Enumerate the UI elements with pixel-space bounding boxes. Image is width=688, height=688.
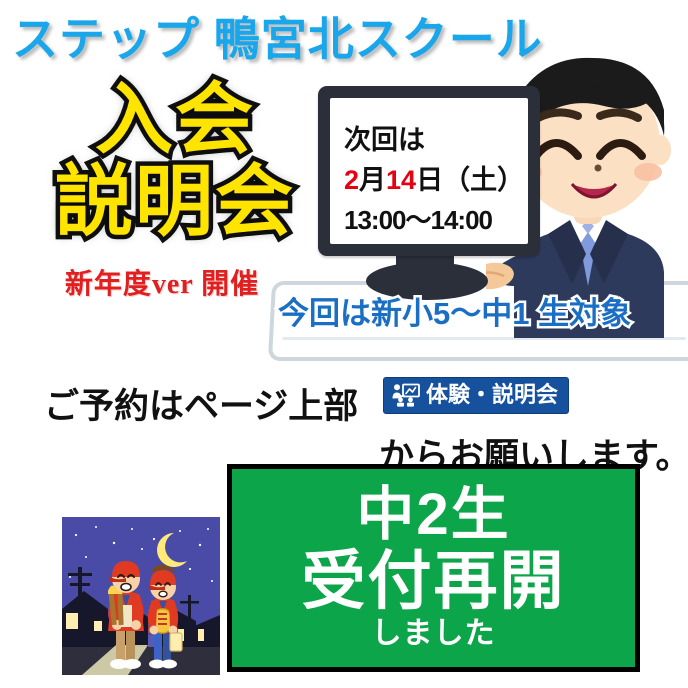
taiken-setsumeikai-button[interactable]: 体験・説明会 <box>383 377 569 414</box>
monitor-date-line: 2月14日（土） <box>344 160 522 200</box>
date-day-number: 14 <box>386 165 416 195</box>
green-notice-box: 中2生 受付再開 しました <box>227 464 640 672</box>
date-day-kanji: 日（土） <box>416 165 524 195</box>
promo-poster: ステップ 鴨宮北スクール 入会 説明会 新年度ver 開催 <box>0 0 688 688</box>
night-patrol-illustration <box>62 517 220 675</box>
headline: 入会 説明会 <box>50 78 300 242</box>
subhead: 新年度ver 開催 <box>22 262 302 302</box>
monitor-time-range: 13:00〜14:00 <box>344 200 522 240</box>
notice-line-2: 受付再開 <box>302 546 566 616</box>
headline-line-1: 入会 <box>50 78 300 160</box>
monitor-line-1: 次回は <box>344 120 522 160</box>
date-month-number: 2 <box>344 165 359 195</box>
monitor-stand-base <box>366 262 488 300</box>
monitor-screen: 次回は 2月14日（土） 13:00〜14:00 <box>330 98 528 244</box>
headline-line-2: 説明会 <box>50 160 300 242</box>
date-month-kanji: 月 <box>359 165 386 195</box>
monitor: 次回は 2月14日（土） 13:00〜14:00 <box>318 86 540 256</box>
notice-line-1: 中2生 <box>356 484 510 546</box>
taiken-button-label: 体験・説明会 <box>426 383 558 407</box>
reservation-line-1: ご予約はページ上部 <box>44 378 358 429</box>
monitor-screen-text: 次回は 2月14日（土） 13:00〜14:00 <box>344 120 522 240</box>
notice-line-3: しました <box>372 616 496 652</box>
seminar-presentation-icon <box>392 383 420 407</box>
desk-banner-text: 今回は新小5〜中1 生対象 <box>278 296 688 332</box>
